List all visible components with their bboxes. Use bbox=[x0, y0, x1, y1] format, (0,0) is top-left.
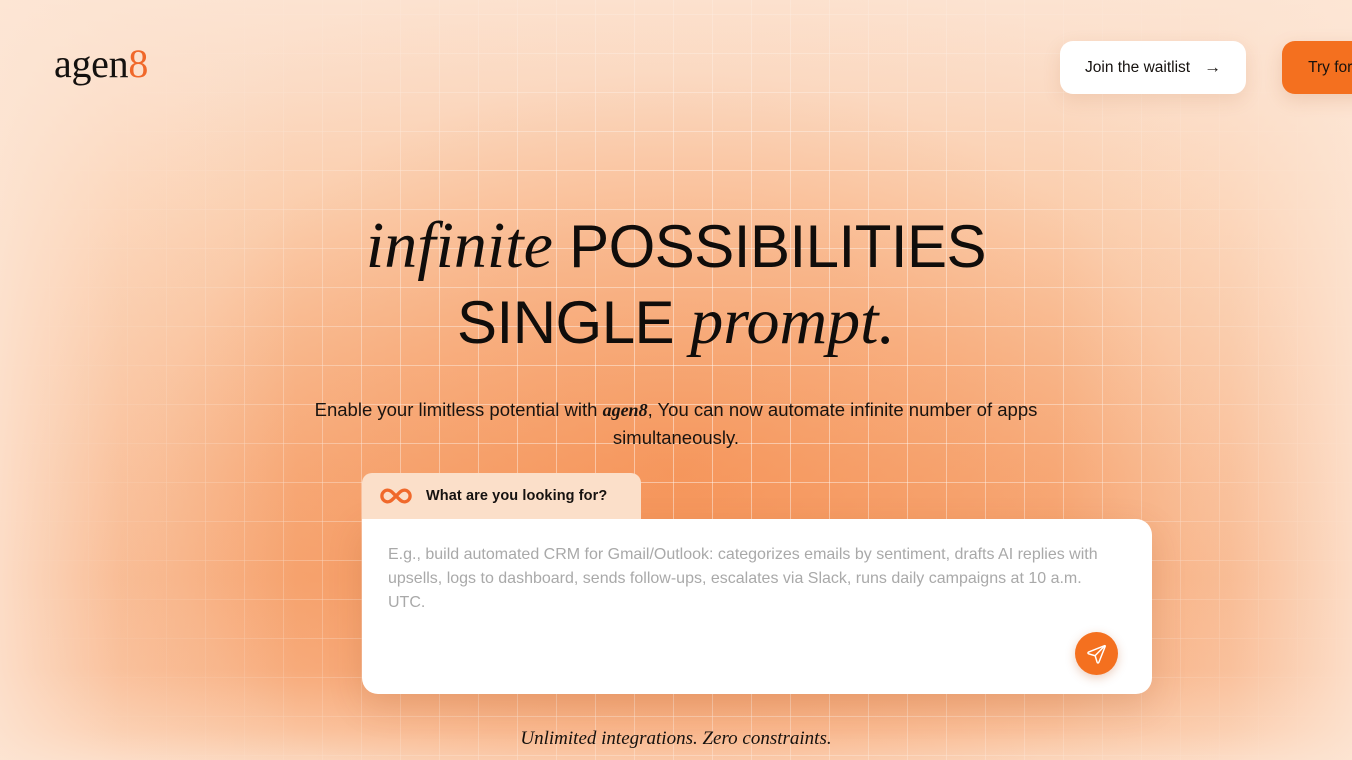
prompt-tab[interactable]: What are you looking for? bbox=[362, 473, 641, 519]
subtitle-brand: agen8 bbox=[603, 400, 648, 420]
header-actions: Join the waitlist → Try for free bbox=[1060, 41, 1352, 94]
prompt-input-card[interactable]: E.g., build automated CRM for Gmail/Outl… bbox=[362, 519, 1152, 694]
infinity-icon bbox=[378, 486, 414, 506]
prompt-composer: What are you looking for? E.g., build au… bbox=[362, 473, 1152, 694]
try-for-free-label: Try for free bbox=[1308, 59, 1352, 77]
arrow-right-icon: → bbox=[1204, 59, 1221, 76]
join-waitlist-button[interactable]: Join the waitlist → bbox=[1060, 41, 1246, 94]
subtitle-text-after: , You can now automate infinite number o… bbox=[613, 399, 1037, 448]
try-for-free-button[interactable]: Try for free bbox=[1282, 41, 1352, 94]
headline-word-single: SINGLE bbox=[457, 289, 674, 356]
headline-line-1: infinite POSSIBILITIES bbox=[0, 213, 1352, 279]
join-waitlist-label: Join the waitlist bbox=[1085, 59, 1190, 77]
prompt-tab-label: What are you looking for? bbox=[426, 488, 607, 504]
send-icon bbox=[1086, 643, 1107, 664]
site-header: agen8 Join the waitlist → Try for free bbox=[0, 0, 1352, 136]
send-button[interactable] bbox=[1075, 632, 1118, 675]
prompt-input-placeholder[interactable]: E.g., build automated CRM for Gmail/Outl… bbox=[388, 543, 1102, 615]
headline-word-possibilities: POSSIBILITIES bbox=[569, 213, 986, 280]
headline-word-infinite: infinite bbox=[366, 209, 553, 282]
hero-tagline: Unlimited integrations. Zero constraints… bbox=[0, 728, 1352, 750]
hero-subtitle: Enable your limitless potential with age… bbox=[261, 396, 1091, 452]
brand-logo-eight: 8 bbox=[128, 41, 148, 86]
brand-logo-text: agen bbox=[54, 41, 128, 86]
subtitle-text-before: Enable your limitless potential with bbox=[315, 399, 603, 420]
headline-word-prompt: prompt. bbox=[690, 285, 895, 358]
brand-logo[interactable]: agen8 bbox=[54, 44, 148, 84]
headline-line-2: SINGLE prompt. bbox=[0, 289, 1352, 355]
